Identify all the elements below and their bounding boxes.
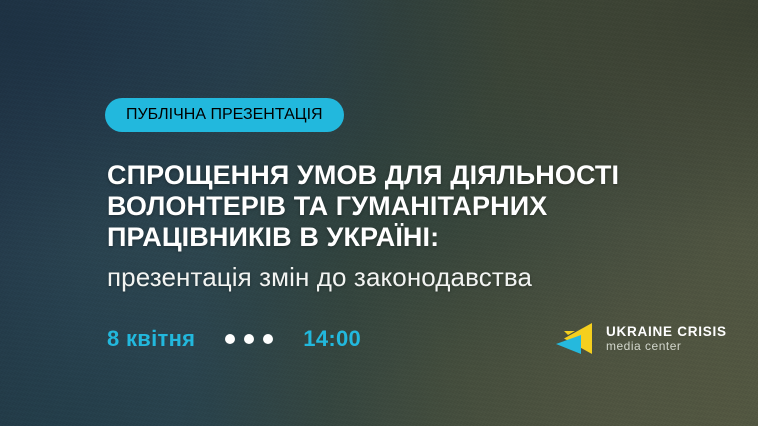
headline-line-1: СПРОЩЕННЯ УМОВ ДЛЯ ДІЯЛЬНОСТІ <box>107 160 707 191</box>
event-date: 8 квітня <box>107 328 195 350</box>
event-time: 14:00 <box>303 328 361 350</box>
headline-line-3: ПРАЦІВНИКІВ В УКРАЇНІ: <box>107 222 707 253</box>
organizer-tagline: media center <box>606 339 727 353</box>
event-type-badge-label: ПУБЛІЧНА ПРЕЗЕНТАЦІЯ <box>126 106 323 124</box>
event-meta-row: 8 квітня 14:00 <box>107 324 361 354</box>
organizer-logo-text: UKRAINE CRISIS media center <box>606 324 727 353</box>
separator-dot <box>263 334 273 344</box>
ukraine-crisis-media-center-arrow-icon <box>551 318 595 358</box>
organizer-name: UKRAINE CRISIS <box>606 324 727 339</box>
headline-block: СПРОЩЕННЯ УМОВ ДЛЯ ДІЯЛЬНОСТІ ВОЛОНТЕРІВ… <box>107 160 707 294</box>
separator-dot <box>244 334 254 344</box>
headline-subtitle: презентація змін до законодавства <box>107 260 707 294</box>
event-type-badge: ПУБЛІЧНА ПРЕЗЕНТАЦІЯ <box>105 98 344 132</box>
event-promo-poster: ПУБЛІЧНА ПРЕЗЕНТАЦІЯ СПРОЩЕННЯ УМОВ ДЛЯ … <box>0 0 758 426</box>
dot-separator-icon <box>225 334 273 344</box>
separator-dot <box>225 334 235 344</box>
organizer-logo: UKRAINE CRISIS media center <box>551 318 727 358</box>
headline-line-2: ВОЛОНТЕРІВ ТА ГУМАНІТАРНИХ <box>107 191 707 222</box>
